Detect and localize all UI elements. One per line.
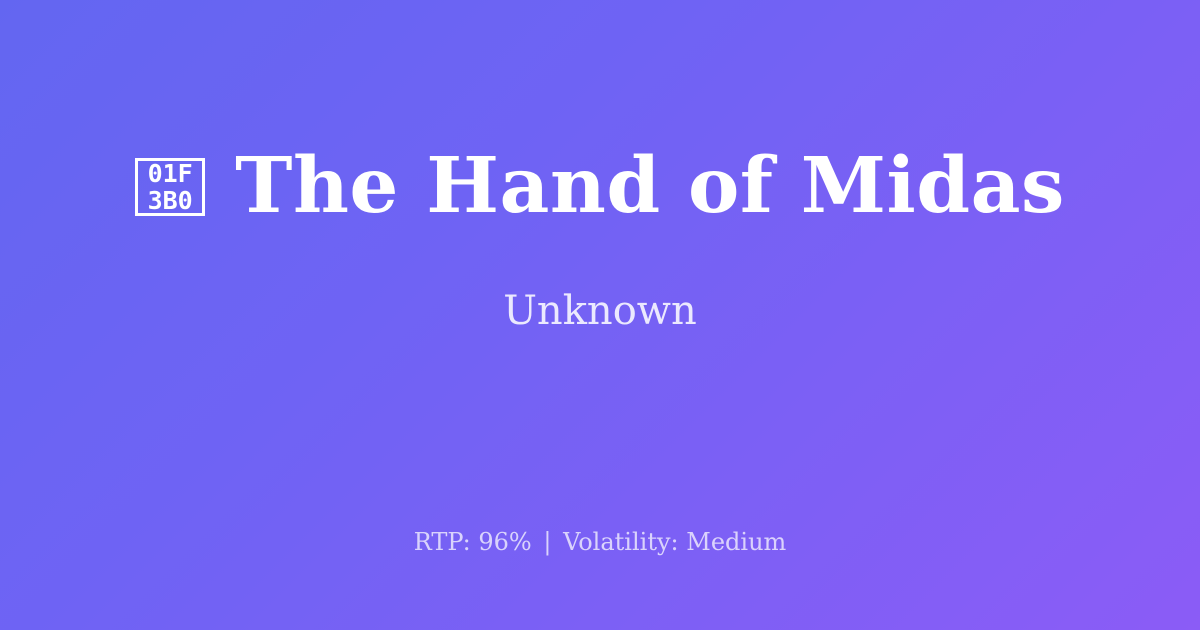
rtp-value: 96% xyxy=(478,528,531,556)
meta-separator: | xyxy=(539,528,555,556)
page-title: The Hand of Midas xyxy=(235,145,1065,228)
og-card: 01F 3B0 The Hand of Midas Unknown RTP: 9… xyxy=(0,0,1200,630)
title-row: 01F 3B0 The Hand of Midas xyxy=(60,145,1140,228)
volatility-value: Medium xyxy=(686,528,786,556)
rtp-label: RTP: xyxy=(414,528,471,556)
hero-block: 01F 3B0 The Hand of Midas Unknown xyxy=(0,0,1200,480)
slot-machine-icon: 01F 3B0 xyxy=(135,158,205,216)
meta-line: RTP: 96% | Volatility: Medium xyxy=(0,528,1200,557)
page-subtitle: Unknown xyxy=(503,287,697,335)
tofu-codepoint-top: 01F xyxy=(148,161,193,186)
tofu-codepoint-bottom: 3B0 xyxy=(148,188,193,213)
volatility-label: Volatility: xyxy=(563,528,679,556)
